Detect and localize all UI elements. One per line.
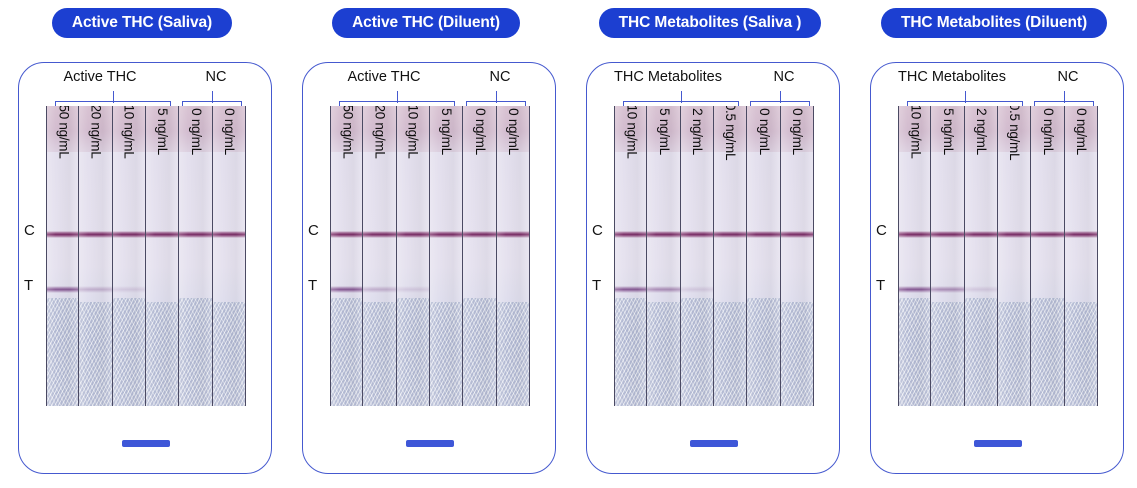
test-strip: 2 ng/mL bbox=[965, 106, 998, 406]
nc-bracket-stem bbox=[1064, 91, 1065, 103]
conjugate-pad bbox=[647, 106, 679, 152]
panel-title: Active THC (Diluent) bbox=[332, 8, 520, 38]
control-line-label: C bbox=[308, 222, 319, 239]
analyte-group-label: Active THC bbox=[311, 69, 457, 85]
panel-card: Active THCNC50 ng/mL20 ng/mL10 ng/mL5 ng… bbox=[18, 62, 272, 474]
test-strip: 0 ng/mL bbox=[213, 106, 246, 406]
absorbent-pad bbox=[430, 302, 462, 406]
conjugate-pad bbox=[1065, 106, 1097, 152]
control-line bbox=[1031, 231, 1064, 238]
scale-bar bbox=[19, 440, 273, 447]
conjugate-pad bbox=[463, 106, 495, 152]
absorbent-pad bbox=[1031, 298, 1063, 406]
control-line bbox=[965, 231, 998, 238]
test-strip: 2 ng/mL bbox=[681, 106, 714, 406]
control-line bbox=[497, 231, 530, 238]
control-line bbox=[213, 231, 246, 238]
strip-array: 10 ng/mL5 ng/mL2 ng/mL0.5 ng/mL0 ng/mL0 … bbox=[898, 106, 1098, 406]
nc-bracket-stem bbox=[780, 91, 781, 103]
absorbent-pad bbox=[363, 302, 395, 406]
test-strip: 5 ng/mL bbox=[647, 106, 680, 406]
test-line bbox=[79, 286, 112, 293]
group-label-row: Active THCNC bbox=[303, 69, 557, 91]
panel-2: Active THC (Diluent)Active THCNC50 ng/mL… bbox=[284, 0, 568, 488]
conjugate-pad bbox=[781, 106, 813, 152]
conjugate-pad bbox=[113, 106, 145, 152]
test-strip: 0 ng/mL bbox=[463, 106, 496, 406]
absorbent-pad bbox=[213, 302, 245, 406]
absorbent-pad bbox=[113, 298, 145, 406]
control-line bbox=[363, 231, 396, 238]
analyte-bracket-stem bbox=[681, 91, 682, 103]
scale-bar bbox=[871, 440, 1125, 447]
conjugate-pad bbox=[213, 106, 245, 152]
scale-bar bbox=[303, 440, 557, 447]
control-line bbox=[781, 231, 814, 238]
strip-array: 10 ng/mL5 ng/mL2 ng/mL0.5 ng/mL0 ng/mL0 … bbox=[614, 106, 814, 406]
test-strip: 50 ng/mL bbox=[330, 106, 363, 406]
panel-title: Active THC (Saliva) bbox=[52, 8, 232, 38]
test-line bbox=[681, 286, 714, 293]
scale-bar-line bbox=[406, 440, 454, 447]
conjugate-pad bbox=[331, 106, 362, 152]
conjugate-pad bbox=[1031, 106, 1063, 152]
analyte-bracket-stem bbox=[113, 91, 114, 103]
panel-title: THC Metabolites (Diluent) bbox=[881, 8, 1107, 38]
test-line bbox=[898, 286, 931, 293]
scale-bar-line bbox=[690, 440, 738, 447]
test-strip: 10 ng/mL bbox=[113, 106, 146, 406]
control-line bbox=[146, 231, 179, 238]
test-strip: 5 ng/mL bbox=[430, 106, 463, 406]
test-line bbox=[614, 286, 647, 293]
control-line bbox=[747, 231, 780, 238]
conjugate-pad bbox=[397, 106, 429, 152]
nc-group-label: NC bbox=[179, 69, 253, 85]
absorbent-pad bbox=[781, 302, 813, 406]
control-line bbox=[931, 231, 964, 238]
analyte-bracket-stem bbox=[397, 91, 398, 103]
test-line bbox=[330, 286, 363, 293]
control-line bbox=[430, 231, 463, 238]
control-line bbox=[647, 231, 680, 238]
test-strip: 0 ng/mL bbox=[1065, 106, 1098, 406]
test-strip: 10 ng/mL bbox=[397, 106, 430, 406]
panel-card: Active THCNC50 ng/mL20 ng/mL10 ng/mL5 ng… bbox=[302, 62, 556, 474]
control-line bbox=[179, 231, 212, 238]
scale-bar bbox=[587, 440, 841, 447]
test-strip: 0 ng/mL bbox=[781, 106, 814, 406]
conjugate-pad bbox=[79, 106, 111, 152]
conjugate-pad bbox=[931, 106, 963, 152]
control-line bbox=[463, 231, 496, 238]
test-strip: 0.5 ng/mL bbox=[998, 106, 1031, 406]
absorbent-pad bbox=[397, 298, 429, 406]
control-line bbox=[998, 231, 1031, 238]
control-line bbox=[330, 231, 363, 238]
control-line-label: C bbox=[592, 222, 603, 239]
test-line bbox=[363, 286, 396, 293]
absorbent-pad bbox=[331, 298, 362, 406]
conjugate-pad bbox=[179, 106, 211, 152]
absorbent-pad bbox=[747, 298, 779, 406]
scale-bar-line bbox=[122, 440, 170, 447]
test-strip: 0 ng/mL bbox=[497, 106, 530, 406]
absorbent-pad bbox=[79, 302, 111, 406]
conjugate-pad bbox=[714, 106, 746, 152]
test-strip: 20 ng/mL bbox=[363, 106, 396, 406]
absorbent-pad bbox=[146, 302, 178, 406]
conjugate-pad bbox=[998, 106, 1030, 152]
panel-card: THC MetabolitesNC10 ng/mL5 ng/mL2 ng/mL0… bbox=[870, 62, 1124, 474]
conjugate-pad bbox=[747, 106, 779, 152]
conjugate-pad bbox=[47, 106, 78, 152]
conjugate-pad bbox=[681, 106, 713, 152]
absorbent-pad bbox=[497, 302, 529, 406]
test-strip: 10 ng/mL bbox=[898, 106, 931, 406]
test-strip: 0 ng/mL bbox=[179, 106, 212, 406]
test-line bbox=[397, 286, 430, 293]
conjugate-pad bbox=[430, 106, 462, 152]
nc-bracket-stem bbox=[212, 91, 213, 103]
test-strip: 20 ng/mL bbox=[79, 106, 112, 406]
absorbent-pad bbox=[463, 298, 495, 406]
test-line-label: T bbox=[24, 277, 33, 294]
conjugate-pad bbox=[363, 106, 395, 152]
test-strip: 50 ng/mL bbox=[46, 106, 79, 406]
absorbent-pad bbox=[615, 298, 646, 406]
control-line bbox=[681, 231, 714, 238]
conjugate-pad bbox=[497, 106, 529, 152]
control-line bbox=[113, 231, 146, 238]
analyte-group-label: THC Metabolites bbox=[595, 69, 741, 85]
group-label-row: THC MetabolitesNC bbox=[871, 69, 1125, 91]
panel-title: THC Metabolites (Saliva ) bbox=[599, 8, 822, 38]
absorbent-pad bbox=[647, 302, 679, 406]
absorbent-pad bbox=[998, 302, 1030, 406]
test-line bbox=[46, 286, 79, 293]
control-line bbox=[714, 231, 747, 238]
test-strip: 10 ng/mL bbox=[614, 106, 647, 406]
panel-4: THC Metabolites (Diluent)THC Metabolites… bbox=[852, 0, 1136, 488]
test-strip: 0 ng/mL bbox=[747, 106, 780, 406]
panel-1: Active THC (Saliva)Active THCNC50 ng/mL2… bbox=[0, 0, 284, 488]
analyte-bracket-stem bbox=[965, 91, 966, 103]
panel-title-wrap: THC Metabolites (Diluent) bbox=[852, 8, 1136, 38]
strip-array: 50 ng/mL20 ng/mL10 ng/mL5 ng/mL0 ng/mL0 … bbox=[46, 106, 246, 406]
panel-3: THC Metabolites (Saliva )THC Metabolites… bbox=[568, 0, 852, 488]
nc-group-label: NC bbox=[463, 69, 537, 85]
panel-title-wrap: Active THC (Diluent) bbox=[284, 8, 568, 38]
test-line bbox=[931, 286, 964, 293]
test-strip: 5 ng/mL bbox=[146, 106, 179, 406]
control-line-label: C bbox=[24, 222, 35, 239]
absorbent-pad bbox=[899, 298, 930, 406]
conjugate-pad bbox=[899, 106, 930, 152]
nc-group-label: NC bbox=[1031, 69, 1105, 85]
test-strip: 0.5 ng/mL bbox=[714, 106, 747, 406]
control-line bbox=[397, 231, 430, 238]
test-line bbox=[965, 286, 998, 293]
panel-card: THC MetabolitesNC10 ng/mL5 ng/mL2 ng/mL0… bbox=[586, 62, 840, 474]
panel-title-wrap: THC Metabolites (Saliva ) bbox=[568, 8, 852, 38]
test-line-label: T bbox=[308, 277, 317, 294]
absorbent-pad bbox=[681, 298, 713, 406]
test-line bbox=[647, 286, 680, 293]
control-line bbox=[46, 231, 79, 238]
scale-bar-line bbox=[974, 440, 1022, 447]
conjugate-pad bbox=[965, 106, 997, 152]
test-line-label: T bbox=[876, 277, 885, 294]
nc-group-label: NC bbox=[747, 69, 821, 85]
control-line bbox=[1065, 231, 1098, 238]
absorbent-pad bbox=[1065, 302, 1097, 406]
nc-bracket-stem bbox=[496, 91, 497, 103]
absorbent-pad bbox=[47, 298, 78, 406]
test-strip: 5 ng/mL bbox=[931, 106, 964, 406]
figure-root: Active THC (Saliva)Active THCNC50 ng/mL2… bbox=[0, 0, 1137, 488]
analyte-group-label: Active THC bbox=[27, 69, 173, 85]
analyte-group-label: THC Metabolites bbox=[879, 69, 1025, 85]
group-label-row: THC MetabolitesNC bbox=[587, 69, 841, 91]
control-line bbox=[79, 231, 112, 238]
test-line bbox=[113, 286, 146, 293]
control-line bbox=[614, 231, 647, 238]
conjugate-pad bbox=[146, 106, 178, 152]
conjugate-pad bbox=[615, 106, 646, 152]
absorbent-pad bbox=[714, 302, 746, 406]
test-line-label: T bbox=[592, 277, 601, 294]
control-line-label: C bbox=[876, 222, 887, 239]
panel-title-wrap: Active THC (Saliva) bbox=[0, 8, 284, 38]
test-strip: 0 ng/mL bbox=[1031, 106, 1064, 406]
control-line bbox=[898, 231, 931, 238]
group-label-row: Active THCNC bbox=[19, 69, 273, 91]
absorbent-pad bbox=[179, 298, 211, 406]
strip-array: 50 ng/mL20 ng/mL10 ng/mL5 ng/mL0 ng/mL0 … bbox=[330, 106, 530, 406]
absorbent-pad bbox=[965, 298, 997, 406]
absorbent-pad bbox=[931, 302, 963, 406]
